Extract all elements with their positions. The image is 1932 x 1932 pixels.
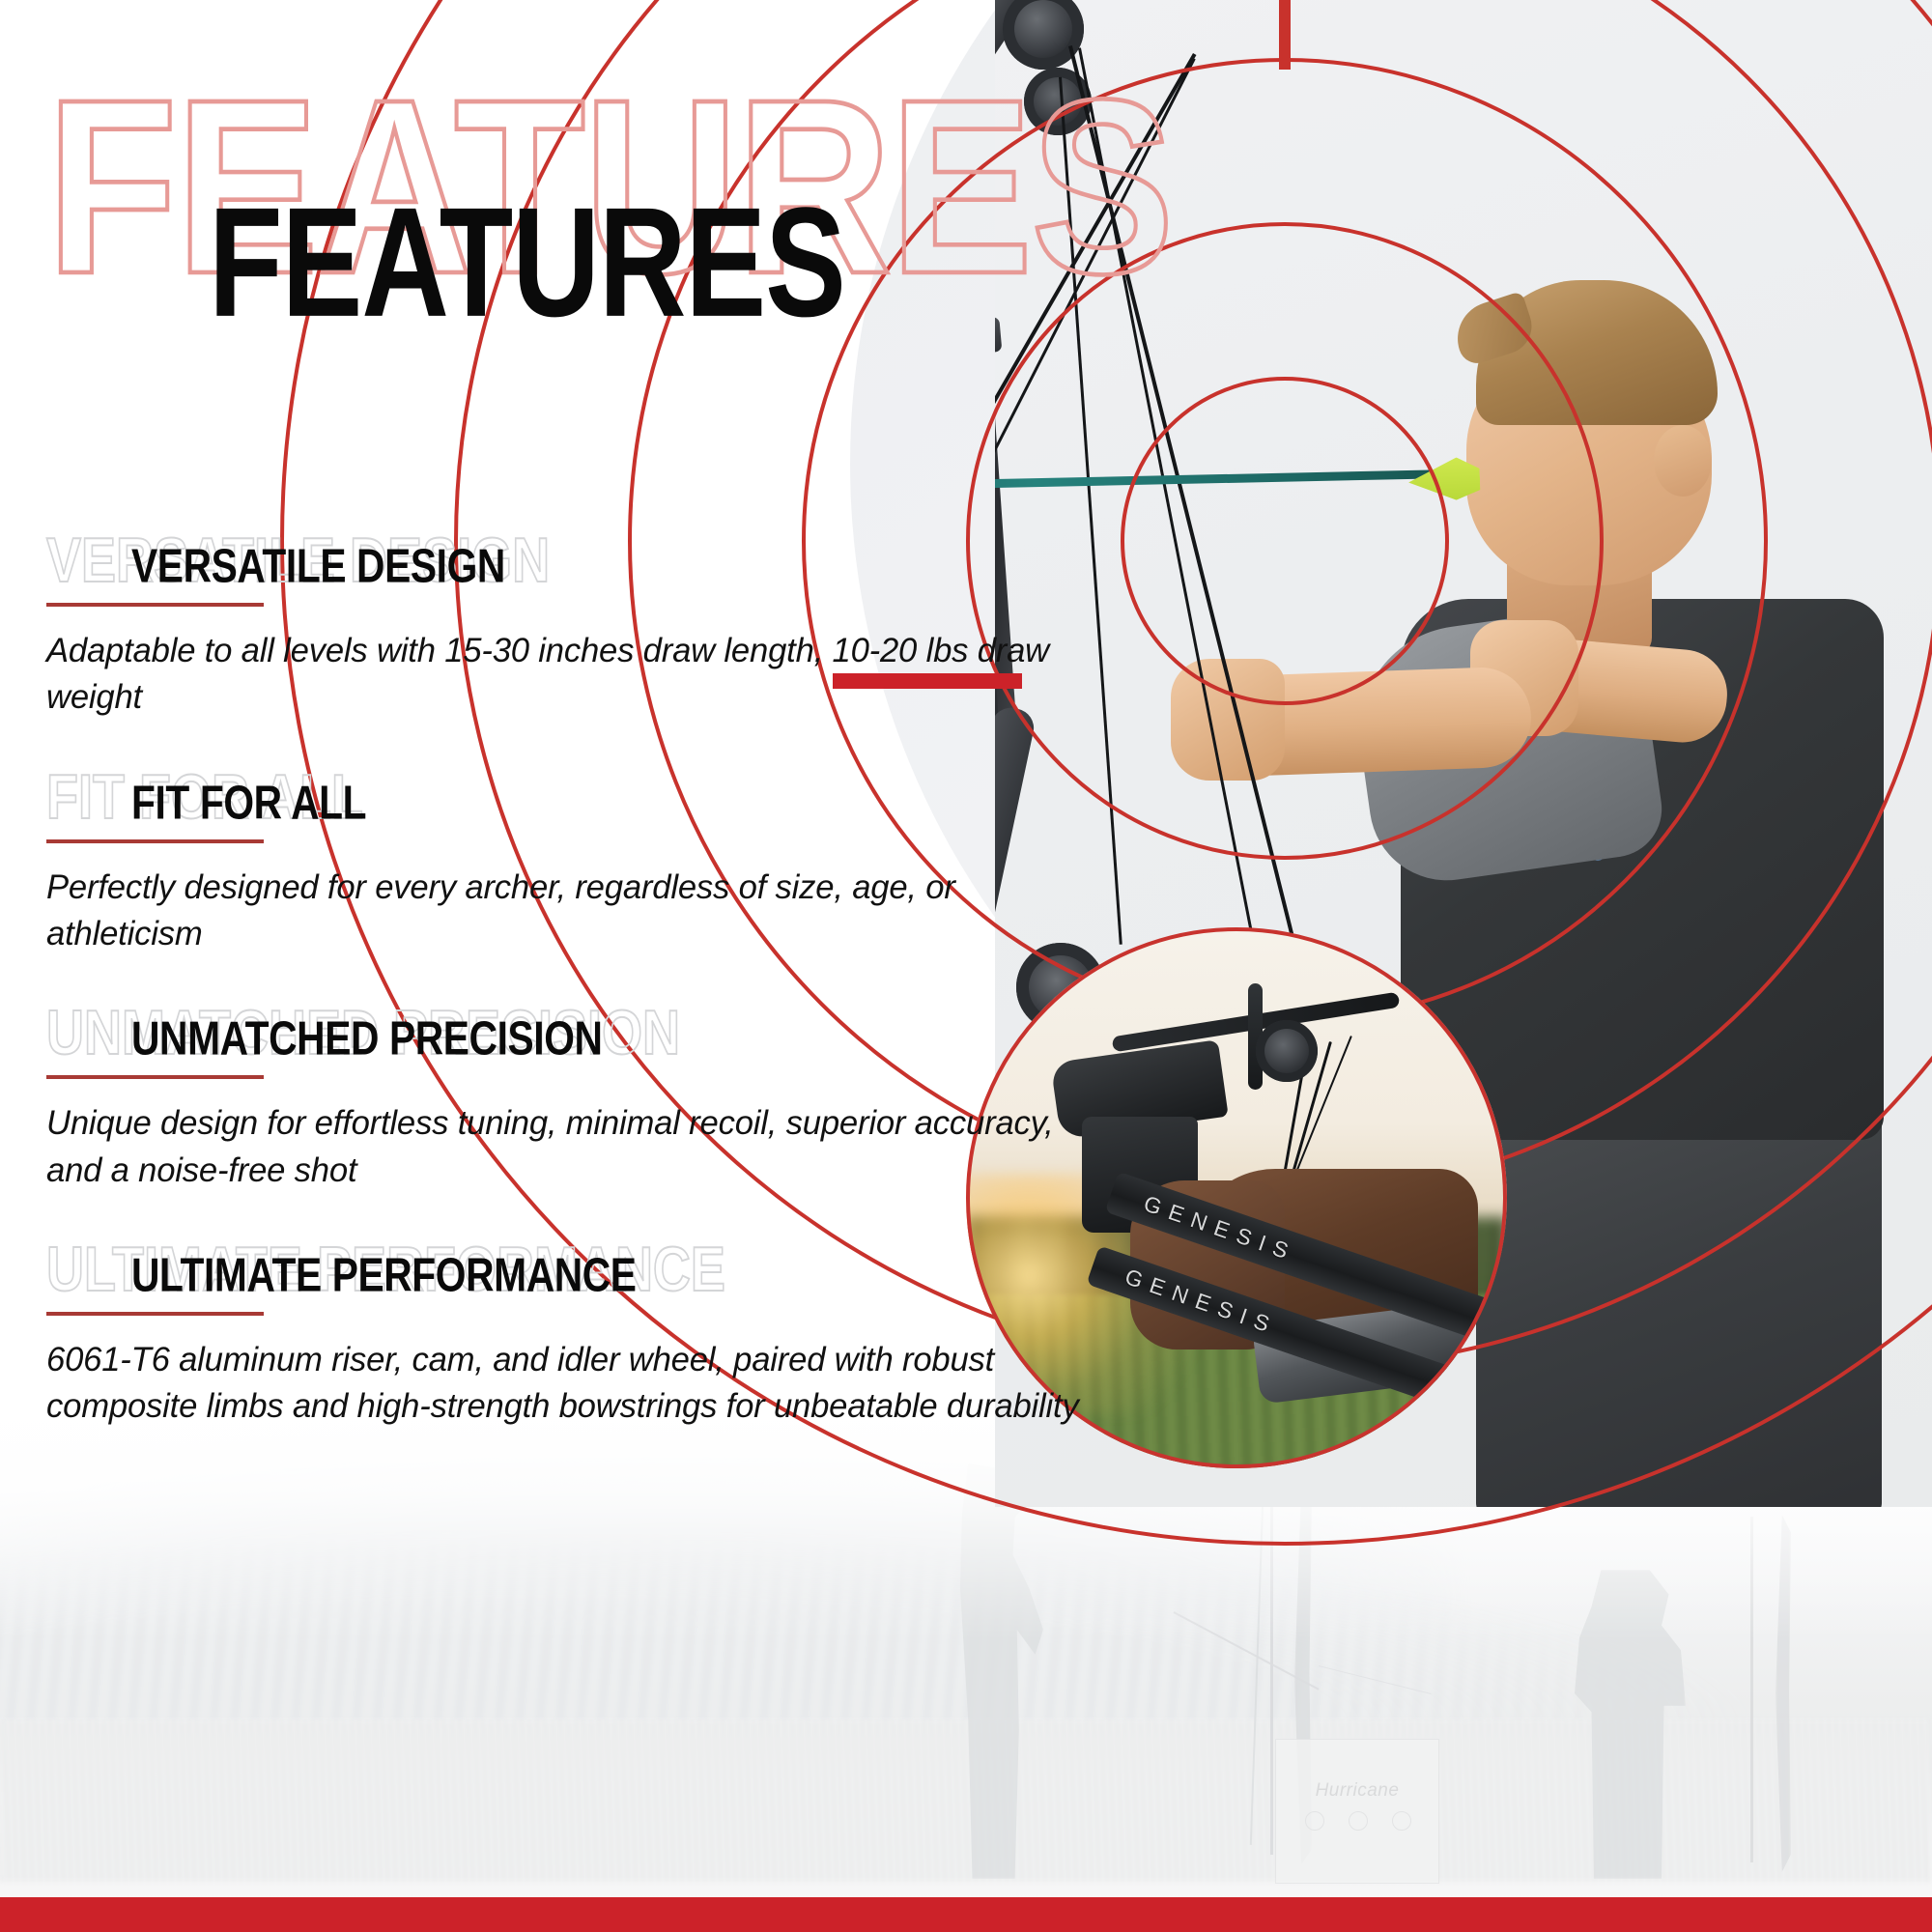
feature-description: Unique design for effortless tuning, min…: [46, 1100, 1060, 1194]
features-list: VERSATILE DESIGN VERSATILE DESIGN Adapta…: [46, 541, 1109, 1487]
target-bag-ring-icon: [1349, 1811, 1368, 1831]
feature-underline-rule: [46, 1312, 264, 1316]
hero-ear: [1654, 425, 1712, 497]
bottom-accent-bar: [0, 1897, 1932, 1932]
target-bag-rings: [1293, 1806, 1423, 1835]
target-bag-label: Hurricane: [1285, 1780, 1430, 1802]
feature-description: 6061-T6 aluminum riser, cam, and idler w…: [46, 1337, 1098, 1431]
feature-title: ULTIMATE PERFORMANCE: [131, 1250, 637, 1300]
feature-item-unmatched-precision: UNMATCHED PRECISION UNMATCHED PRECISION …: [46, 1013, 1109, 1194]
target-bag-ring-icon: [1305, 1811, 1324, 1831]
feature-description: Adaptable to all levels with 15-30 inche…: [46, 628, 1060, 722]
feature-underline-rule: [46, 1075, 264, 1079]
poster-canvas: Hurricane: [0, 0, 1932, 1932]
feature-description: Perfectly designed for every archer, reg…: [46, 865, 1060, 958]
feature-title: VERSATILE DESIGN: [131, 541, 505, 591]
page-title: FEATURES: [209, 185, 845, 341]
feature-underline-rule: [46, 839, 264, 843]
hero-shorts: [1476, 1101, 1882, 1507]
inset-idler-wheel-icon: [1256, 1020, 1318, 1082]
feature-item-versatile-design: VERSATILE DESIGN VERSATILE DESIGN Adapta…: [46, 541, 1109, 722]
feature-title: FIT FOR ALL: [131, 778, 366, 828]
page-headline: FEATURES FEATURES: [46, 64, 1302, 315]
feature-item-ultimate-performance: ULTIMATE PERFORMANCE ULTIMATE PERFORMANC…: [46, 1250, 1109, 1431]
feature-item-fit-for-all: FIT FOR ALL FIT FOR ALL Perfectly design…: [46, 778, 1109, 958]
feature-underline-rule: [46, 603, 264, 607]
target-bag-ring-icon: [1392, 1811, 1411, 1831]
feature-title: UNMATCHED PRECISION: [131, 1013, 603, 1064]
